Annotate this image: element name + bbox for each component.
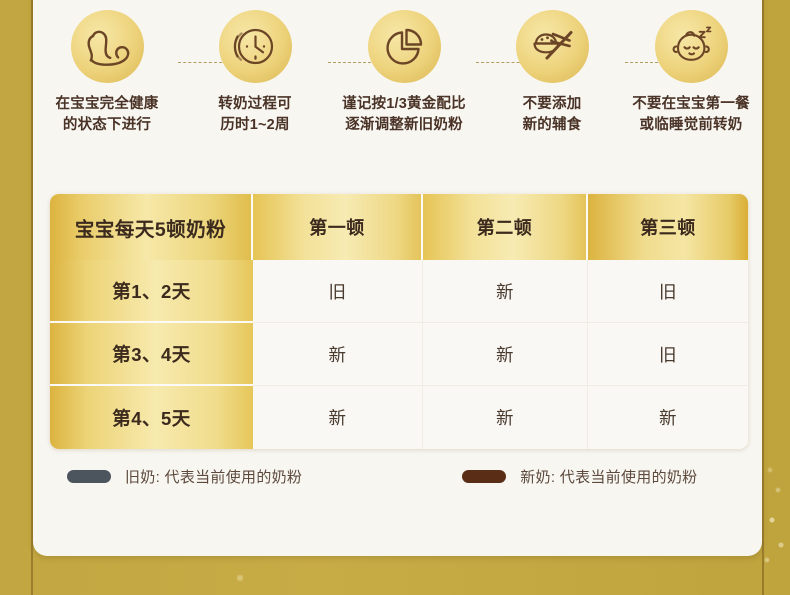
table-row-label: 第1、2天 xyxy=(50,260,253,323)
flexed-biceps-icon xyxy=(71,10,144,83)
pie-chart-icon xyxy=(368,10,441,83)
step-label: 转奶过程可 历时1~2周 xyxy=(185,94,325,135)
no-solid-food-icon xyxy=(516,10,589,83)
table-cell: 新 xyxy=(423,386,588,449)
table-cell: 旧 xyxy=(588,323,748,386)
table-cell: 旧 xyxy=(588,260,748,323)
legend-item-new-milk: 新奶: 代表当前使用的奶粉 xyxy=(462,466,697,487)
legend-swatch-old-icon xyxy=(67,470,111,483)
step-item-2[interactable]: 转奶过程可 历时1~2周 xyxy=(185,0,325,135)
table-cell: 旧 xyxy=(253,260,423,323)
step-label: 谨记按1/3黄金配比 逐渐调整新旧奶粉 xyxy=(334,94,474,135)
transition-schedule-table: 宝宝每天5顿奶粉 第一顿 第二顿 第三顿 第1、2天 旧 新 旧 第3、4天 新… xyxy=(50,194,748,449)
steps-row: 在宝宝完全健康 的状态下进行 xyxy=(33,0,762,165)
table-header-cell-0: 宝宝每天5顿奶粉 xyxy=(50,194,253,260)
legend-label: 旧奶: 代表当前使用的奶粉 xyxy=(125,466,302,487)
table-row: 第3、4天 新 新 旧 xyxy=(50,323,748,386)
table-row-label: 第3、4天 xyxy=(50,323,253,386)
step-label: 不要添加 新的辅食 xyxy=(482,94,622,135)
table-header-cell-2: 第二顿 xyxy=(423,194,588,260)
step-label: 不要在宝宝第一餐 或临睡觉前转奶 xyxy=(621,94,761,135)
legend-swatch-new-icon xyxy=(462,470,506,483)
step-item-5[interactable]: 不要在宝宝第一餐 或临睡觉前转奶 xyxy=(621,0,761,135)
clock-icon xyxy=(219,10,292,83)
table-header-cell-3: 第三顿 xyxy=(588,194,748,260)
table-cell: 新 xyxy=(423,260,588,323)
table-cell: 新 xyxy=(588,386,748,449)
legend-label: 新奶: 代表当前使用的奶粉 xyxy=(520,466,697,487)
table-cell: 新 xyxy=(253,323,423,386)
gold-frame: 在宝宝完全健康 的状态下进行 xyxy=(0,0,790,595)
table-cell: 新 xyxy=(253,386,423,449)
content-card: 在宝宝完全健康 的状态下进行 xyxy=(33,0,762,556)
step-item-4[interactable]: 不要添加 新的辅食 xyxy=(482,0,622,135)
step-item-1[interactable]: 在宝宝完全健康 的状态下进行 xyxy=(37,0,177,135)
sleeping-baby-icon xyxy=(655,10,728,83)
table-header-cell-1: 第一顿 xyxy=(253,194,423,260)
step-label: 在宝宝完全健康 的状态下进行 xyxy=(37,94,177,135)
table-cell: 新 xyxy=(423,323,588,386)
legend: 旧奶: 代表当前使用的奶粉 新奶: 代表当前使用的奶粉 xyxy=(50,466,748,487)
legend-item-old-milk: 旧奶: 代表当前使用的奶粉 xyxy=(67,466,302,487)
table-row: 第1、2天 旧 新 旧 xyxy=(50,260,748,323)
step-item-3[interactable]: 谨记按1/3黄金配比 逐渐调整新旧奶粉 xyxy=(334,0,474,135)
table-header-row: 宝宝每天5顿奶粉 第一顿 第二顿 第三顿 xyxy=(50,194,748,260)
table-row-label: 第4、5天 xyxy=(50,386,253,449)
table-row: 第4、5天 新 新 新 xyxy=(50,386,748,449)
